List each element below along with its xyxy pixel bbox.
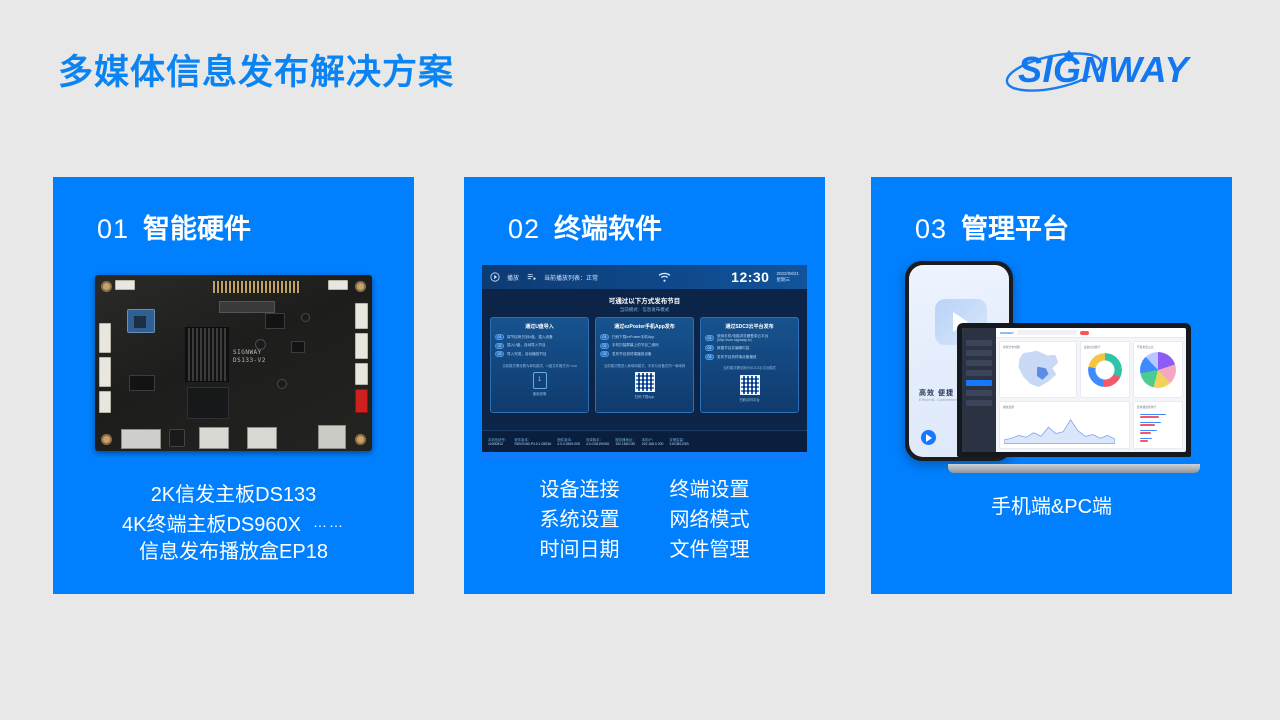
step-text: 发布节目到终端设备播放	[717, 355, 757, 359]
dashboard-header: SIGNWAY	[996, 328, 1186, 338]
playlist-label: 当前播放列表：正常	[544, 273, 598, 282]
clock-display: 12:30	[731, 269, 769, 285]
connector	[115, 280, 135, 290]
ic-chip	[129, 375, 155, 391]
step-text: 扫码下载ezPoster手机App	[612, 335, 654, 339]
software-feature-list: 设备连接 系统设置 时间日期 终端设置 网络模式 文件管理	[464, 477, 825, 564]
pie-chart	[1140, 352, 1176, 388]
step-badge: 03	[600, 351, 609, 357]
sidebar-item[interactable]	[966, 340, 992, 346]
card-heading-01: 01智能硬件	[97, 207, 251, 246]
panel-step: 02插入U盘，自动导入节目	[495, 343, 584, 349]
sidebar-item[interactable]	[966, 390, 992, 396]
card-smart-hardware[interactable]: 01智能硬件 SIGNWAYDS133-V2	[53, 177, 414, 594]
playlist-icon	[526, 272, 537, 282]
list-item: 信息发布播放盒EP18	[53, 539, 414, 566]
hardware-line-1: 2K信发主板DS133	[151, 484, 317, 506]
motherboard-photo: SIGNWAYDS133-V2	[85, 265, 382, 461]
panel-note: 当前模式需切换为SDC3云平台模式	[723, 366, 776, 370]
qr-code	[635, 372, 655, 392]
usb-port	[199, 427, 229, 449]
list-item: 终端设置	[670, 477, 750, 504]
status-item: 本机IP：192.168.0.200	[642, 437, 664, 446]
card-number-01: 01	[97, 214, 129, 244]
mount-hole-icon	[355, 434, 366, 445]
usb-icon: 1	[533, 372, 547, 389]
status-badge	[1080, 331, 1089, 335]
panel-note: 当前模式需设置为单机模式，U盘文件格式为*.vsd	[502, 364, 576, 368]
ic-chip	[291, 341, 305, 353]
panel-heading: 通过ezPoster手机App发布	[614, 323, 675, 330]
terminal-status-bar: 本机系统号：10000812 软件版本：SWV0180-P4.0.1.0503A…	[482, 430, 807, 452]
dashboard-main: SIGNWAY 终端分布地图 设备在线统计	[996, 328, 1186, 452]
list-item: 设备连接	[540, 477, 620, 504]
mount-hole-icon	[101, 281, 112, 292]
feature-column-right: 终端设置 网络模式 文件管理	[670, 477, 750, 564]
signway-logo: SIGNWAY	[1002, 42, 1232, 94]
dashboard-ui: SIGNWAY 终端分布地图 设备在线统计	[962, 328, 1186, 452]
list-item: 网络模式	[670, 507, 750, 534]
hardware-line-3: 信息发布播放盒EP18	[139, 541, 328, 563]
bar-group	[1140, 422, 1177, 426]
step-badge: 01	[495, 334, 504, 340]
step-badge: 02	[705, 345, 714, 351]
bar-chart	[1140, 412, 1177, 444]
card-terminal-software[interactable]: 02终端软件 播放 当前播放列表：正常 12:30 2022/08/21 星期三…	[464, 177, 825, 594]
panel-step: 03发布节目到终端设备播放	[705, 354, 794, 360]
status-value: 3.6GB/12GB	[669, 442, 688, 446]
ic-chip	[265, 313, 285, 329]
widget-title: 终端分布地图	[1003, 345, 1073, 349]
connector	[355, 363, 368, 385]
status-item: 固件版本：4.0.0.0819.005	[557, 437, 580, 446]
status-item: 服务器地址：192.168.0.80	[615, 437, 635, 446]
panel-heading: 通过U盘导入	[525, 323, 554, 330]
pcb-body: SIGNWAYDS133-V2	[95, 275, 372, 451]
play-circle-icon	[490, 272, 500, 282]
usb-port	[247, 427, 277, 449]
widget-title: 播放趋势	[1003, 405, 1126, 409]
laptop-mockup: SIGNWAY 终端分布地图 设备在线统计	[957, 323, 1209, 473]
date-display: 2022/08/21 星期三	[776, 271, 799, 283]
bar-group	[1140, 438, 1177, 442]
widget-title: 节目类型占比	[1137, 345, 1179, 349]
card-management-platform[interactable]: 03管理平台 高效 便捷 Efficient, Convenient, Easy	[871, 177, 1232, 594]
laptop-base	[948, 464, 1200, 473]
method-panel-cloud[interactable]: 通过SDC3云平台发布 01使用手机/电脑浏览器登录云平台 (http://su…	[700, 317, 799, 413]
pin-header	[213, 281, 301, 293]
sidebar-item-active[interactable]	[966, 380, 992, 386]
terminal-subline: 当前模式：信息发布模式	[482, 307, 807, 313]
step-text: 新建节目并编辑内容	[717, 346, 749, 350]
panel-note: 当前模式需进入局域网模式，手机与设备在同一局域网	[604, 364, 685, 368]
hardware-line-2: 4K终端主板DS960X	[122, 514, 301, 536]
wifi-module	[127, 309, 155, 333]
panel-qr-caption: 扫码下载App	[635, 394, 655, 399]
area-chart	[1004, 416, 1115, 444]
step-text: 使用手机/电脑浏览器登录云平台 (http://sun.signway.tv)	[717, 334, 794, 343]
widget-pie: 节目类型占比	[1133, 341, 1183, 398]
search-input[interactable]	[1017, 330, 1077, 335]
card-heading-02: 02终端软件	[508, 207, 662, 246]
ellipsis-mark: ……	[313, 514, 345, 530]
panel-qr-caption: 扫码访问平台	[739, 397, 759, 402]
weekday-value: 星期三	[776, 277, 799, 283]
status-item: 存储容量：3.6GB/12GB	[669, 437, 688, 446]
sidebar-item[interactable]	[966, 360, 992, 366]
panel-qr-caption: 使用说明	[533, 391, 547, 396]
terminal-headline: 可通过以下方式发布节目	[482, 295, 807, 305]
phone-tagline: 高效 便捷	[919, 388, 954, 398]
step-badge: 01	[705, 335, 714, 341]
card-heading-03: 03管理平台	[915, 207, 1069, 246]
connector	[328, 280, 348, 290]
card-title-01: 智能硬件	[143, 214, 251, 244]
board-slot	[219, 301, 275, 313]
method-panel-app[interactable]: 通过ezPoster手机App发布 01扫码下载ezPoster手机App 02…	[595, 317, 694, 413]
card-number-03: 03	[915, 214, 947, 244]
platform-caption: 手机端&PC端	[871, 490, 1232, 519]
bar-group	[1140, 414, 1177, 418]
list-item: 2K信发主板DS133	[53, 482, 414, 509]
hdmi-port	[121, 429, 161, 449]
mount-hole-icon	[355, 281, 366, 292]
step-text: 导入完成，自动播放节目	[507, 352, 547, 356]
step-text: 发布节目到终端播放设备	[612, 352, 652, 356]
capacitor	[301, 313, 310, 322]
step-badge: 03	[495, 351, 504, 357]
app-logo-icon	[921, 430, 936, 445]
connector	[99, 357, 111, 387]
sidebar-item[interactable]	[966, 350, 992, 356]
feature-column-left: 设备连接 系统设置 时间日期	[540, 477, 620, 564]
list-item: 文件管理	[670, 537, 750, 564]
sidebar-item[interactable]	[966, 400, 992, 406]
list-item: 系统设置	[540, 507, 620, 534]
widget-area: 播放趋势	[999, 401, 1130, 449]
widget-title: 设备在线统计	[1084, 345, 1126, 349]
mount-hole-icon	[101, 434, 112, 445]
step-badge: 03	[705, 354, 714, 360]
status-item: 本机系统号：10000812	[488, 437, 508, 446]
status-value: 4.0.0.0819005J	[586, 442, 609, 446]
status-value: 192.168.0.80	[615, 442, 635, 446]
sidebar-item[interactable]	[966, 370, 992, 376]
step-badge: 02	[495, 343, 504, 349]
dashboard-brand: SIGNWAY	[1000, 331, 1014, 335]
status-item: 安卓版本：4.0.0.0819005J	[586, 437, 609, 446]
soc-chip	[187, 387, 229, 419]
panel-step: 02手机扫描屏幕上的节目二维码	[600, 343, 689, 349]
power-connector	[355, 389, 368, 413]
china-map-chart	[1014, 351, 1062, 390]
wifi-icon	[658, 272, 671, 283]
method-panels: 通过U盘导入 01将节目拷贝到U盘，插入设备 02插入U盘，自动导入节目 03导…	[490, 317, 799, 413]
panel-heading: 通过SDC3云平台发布	[725, 323, 773, 330]
panel-step: 01扫码下载ezPoster手机App	[600, 334, 689, 340]
widget-title: 区域播放量排行	[1137, 405, 1179, 409]
connector	[355, 303, 368, 329]
status-value: 10000812	[488, 442, 508, 446]
panel-step: 02新建节目并编辑内容	[705, 345, 794, 351]
terminal-topbar: 播放 当前播放列表：正常 12:30 2022/08/21 星期三	[482, 265, 807, 289]
play-label: 播放	[507, 273, 519, 282]
status-value: SWV0180-P4.0.1.0503A	[514, 442, 551, 446]
connector	[99, 391, 111, 413]
step-text: 将节目拷贝到U盘，插入设备	[507, 335, 553, 339]
donut-chart	[1088, 353, 1122, 387]
widget-map: 终端分布地图	[999, 341, 1077, 398]
panel-step: 01将节目拷贝到U盘，插入设备	[495, 334, 584, 340]
hardware-model-list: 2K信发主板DS133 4K终端主板DS960X…… 信息发布播放盒EP18	[53, 482, 414, 566]
method-panel-usb[interactable]: 通过U盘导入 01将节目拷贝到U盘，插入设备 02插入U盘，自动导入节目 03导…	[490, 317, 589, 413]
svg-text:SIGNWAY: SIGNWAY	[1018, 49, 1191, 90]
capacitor	[277, 379, 287, 389]
widget-bar: 区域播放量排行	[1133, 401, 1183, 449]
connector	[99, 323, 111, 353]
status-value: 192.168.0.200	[642, 442, 664, 446]
dashboard-widgets: 终端分布地图 设备在线统计 节目类型占比	[996, 338, 1186, 452]
step-badge: 01	[600, 334, 609, 340]
screen-bottom-bar	[482, 452, 807, 460]
dashboard-sidebar[interactable]	[962, 328, 996, 452]
page-header: 多媒体信息发布解决方案 SIGNWAY	[0, 0, 1280, 130]
card-title-02: 终端软件	[554, 214, 662, 244]
status-item: 软件版本：SWV0180-P4.0.1.0503A	[514, 437, 551, 446]
qr-code	[740, 375, 760, 395]
card-number-02: 02	[508, 214, 540, 244]
step-badge: 02	[600, 343, 609, 349]
page-title: 多媒体信息发布解决方案	[58, 44, 454, 95]
widget-donut: 设备在线统计	[1080, 341, 1130, 398]
bar-group	[1140, 430, 1177, 434]
laptop-screen: SIGNWAY 终端分布地图 设备在线统计	[957, 323, 1191, 457]
panel-step: 03发布节目到终端播放设备	[600, 351, 689, 357]
list-item: 4K终端主板DS960X……	[53, 509, 414, 539]
heatsink	[185, 327, 229, 382]
connector	[355, 333, 368, 359]
board-silkscreen: SIGNWAYDS133-V2	[233, 349, 266, 365]
panel-step: 01使用手机/电脑浏览器登录云平台 (http://sun.signway.tv…	[705, 334, 794, 343]
step-text: 插入U盘，自动导入节目	[507, 343, 546, 347]
list-item: 时间日期	[540, 537, 620, 564]
phone-and-laptop-mockup: 高效 便捷 Efficient, Convenient, Easy	[883, 259, 1223, 474]
audio-jack	[169, 429, 185, 447]
card-title-03: 管理平台	[961, 214, 1069, 244]
capacitor	[255, 339, 266, 350]
panel-step: 03导入完成，自动播放节目	[495, 351, 584, 357]
ethernet-port	[318, 425, 346, 449]
step-text: 手机扫描屏幕上的节目二维码	[612, 343, 659, 347]
status-value: 4.0.0.0819.005	[557, 442, 580, 446]
terminal-ui-screenshot: 播放 当前播放列表：正常 12:30 2022/08/21 星期三 可通过以下方…	[482, 265, 807, 460]
